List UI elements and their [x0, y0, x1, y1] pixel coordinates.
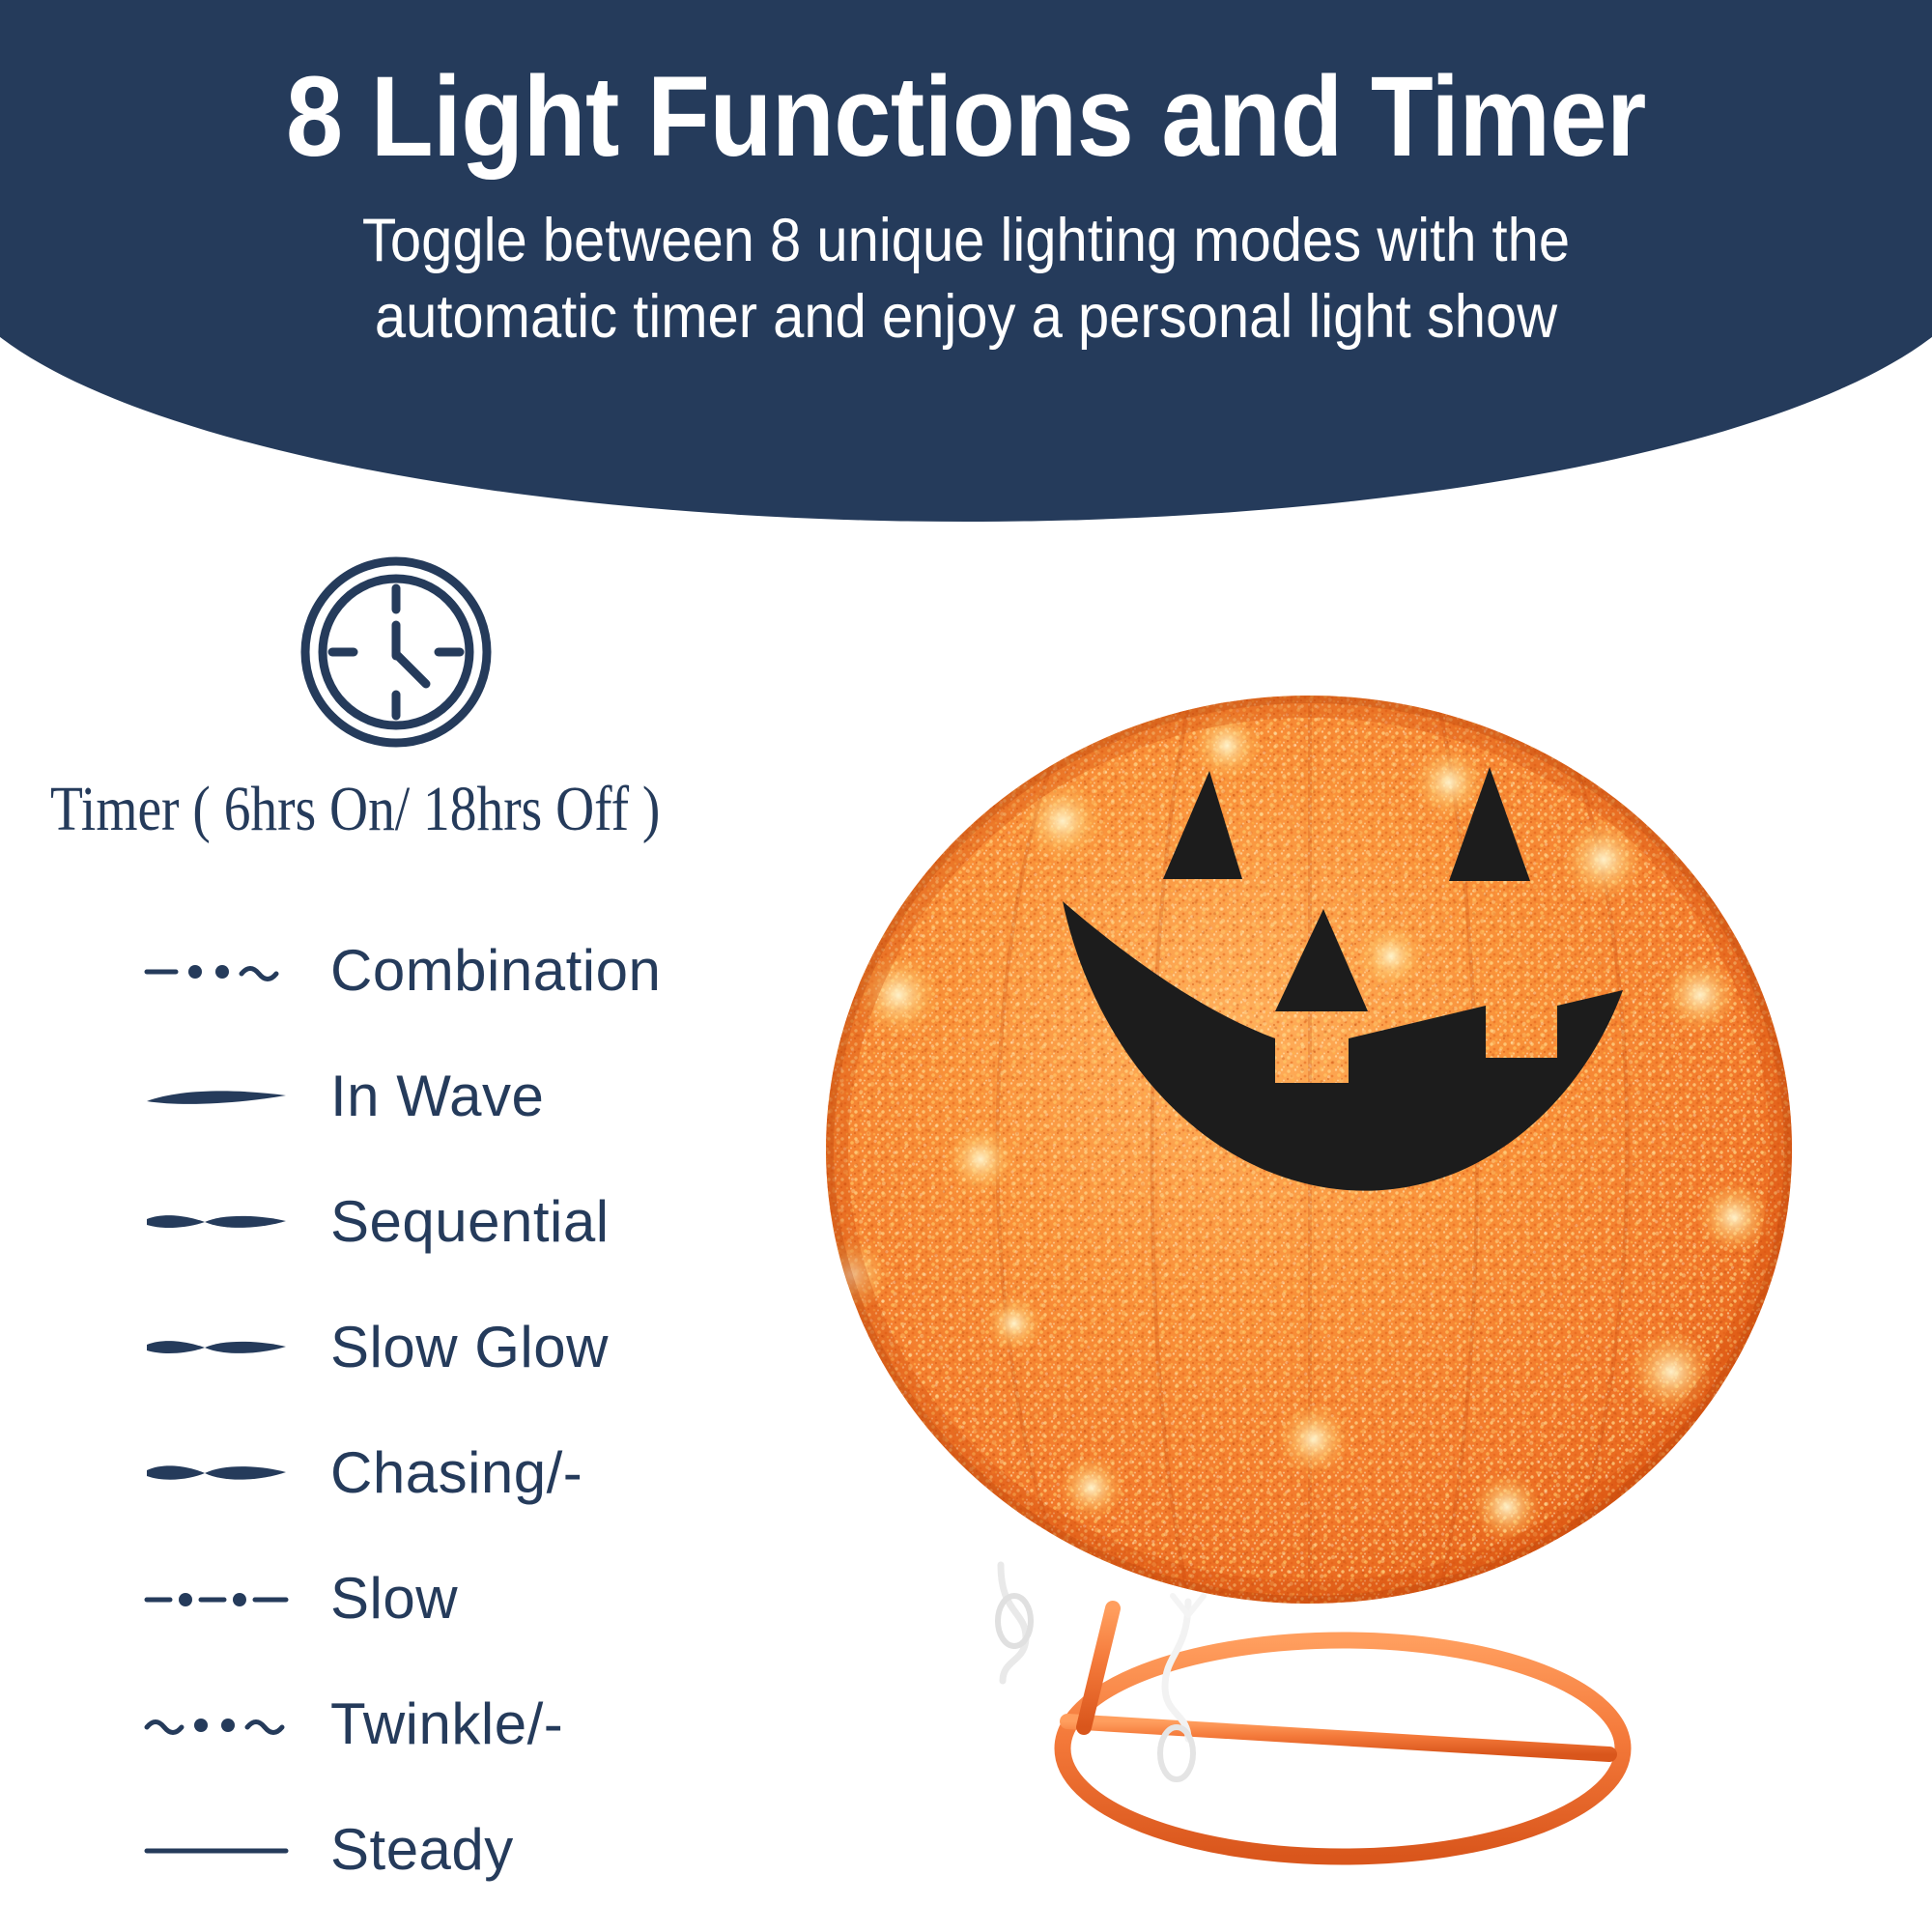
list-item-label: Steady	[330, 1821, 514, 1879]
dash-dot-dash-dot-dash-icon	[135, 1579, 299, 1618]
pumpkin-stand	[998, 1565, 1623, 1857]
tilde-dot-dot-tilde-icon	[135, 1705, 299, 1744]
solid-line-icon	[135, 1831, 299, 1869]
single-lens-icon	[135, 1077, 299, 1116]
page-subtitle-line-2: automatic timer and enjoy a personal lig…	[77, 279, 1855, 355]
list-item-label: Twinkle/-	[330, 1695, 563, 1753]
double-lens-icon	[135, 1328, 299, 1367]
pumpkin-body	[811, 696, 1792, 1604]
page-subtitle: Toggle between 8 unique lighting modes w…	[77, 174, 1855, 356]
list-item-label: Sequential	[330, 1193, 610, 1251]
list-item-label: Combination	[330, 942, 661, 1000]
header-text-group: 8 Light Functions and Timer Toggle betwe…	[0, 0, 1932, 356]
timer-label: Timer ( 6hrs On/ 18hrs Off )	[50, 778, 692, 841]
list-item-twinkle[interactable]: Twinkle/-	[0, 1662, 831, 1787]
list-item-slow[interactable]: Slow	[0, 1536, 831, 1662]
list-item-label: In Wave	[330, 1067, 544, 1125]
list-item-chasing[interactable]: Chasing/-	[0, 1410, 831, 1536]
double-lens-icon	[135, 1454, 299, 1492]
list-item-slow-glow[interactable]: Slow Glow	[0, 1285, 831, 1410]
list-item-steady[interactable]: Steady	[0, 1787, 831, 1913]
list-item-label: Slow	[330, 1570, 458, 1628]
list-item-label: Slow Glow	[330, 1319, 609, 1377]
list-item-label: Chasing/-	[330, 1444, 582, 1502]
list-item-sequential[interactable]: Sequential	[0, 1159, 831, 1285]
page-subtitle-line-1: Toggle between 8 unique lighting modes w…	[77, 203, 1855, 279]
double-lens-icon	[135, 1203, 299, 1241]
list-item-in-wave[interactable]: In Wave	[0, 1034, 831, 1159]
product-image-pumpkin	[773, 541, 1932, 1932]
dash-dot-dot-tilde-icon	[135, 952, 299, 990]
clock-icon	[299, 555, 493, 749]
list-item-combination[interactable]: Combination	[0, 908, 831, 1034]
page-title: 8 Light Functions and Timer	[97, 0, 1835, 174]
light-functions-panel: Timer ( 6hrs On/ 18hrs Off ) Combination…	[0, 541, 831, 1932]
light-function-list: Combination In Wave Sequential	[0, 908, 831, 1913]
header-banner: 8 Light Functions and Timer Toggle betwe…	[0, 0, 1932, 541]
